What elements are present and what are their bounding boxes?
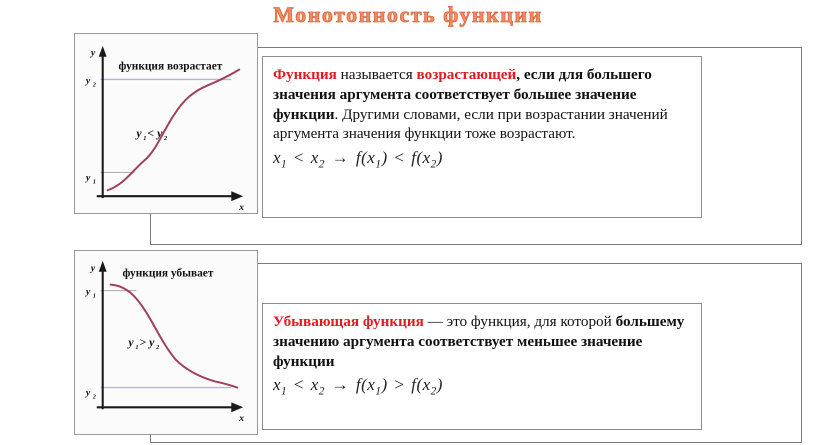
- definition-text-decreasing: Убывающая функция — это функция, для кот…: [273, 312, 691, 371]
- graph-caption-increasing: функция возрастает: [119, 61, 223, 73]
- graph-inequality-left-sub: 1: [143, 135, 146, 142]
- graph-inequality-right-sub: 2: [155, 344, 160, 351]
- graph-inequality-right: y: [155, 126, 163, 140]
- definition-text-increasing: Функция называется возрастающей, если дл…: [273, 65, 691, 144]
- formula-f1: f(x: [356, 375, 375, 394]
- graph-increasing-svg: y x y 2 y 1 функция возрастает y 1 < y 2: [75, 34, 257, 213]
- tick-label-y1-sub: 1: [93, 292, 96, 299]
- graph-decreasing-svg: y x y 1 y 2 функция убывает y 1 > y 2: [75, 251, 257, 434]
- formula-f1-close: ): [381, 375, 387, 394]
- formula-arrow: →: [330, 148, 352, 167]
- formula-arrow: →: [330, 375, 352, 394]
- formula-op1: <: [292, 148, 306, 167]
- formula-f2-close: ): [437, 148, 443, 167]
- text-eto-funktsiya-dlya-kotoroj: — это функция, для которой: [424, 313, 616, 330]
- x-axis-arrow: [231, 191, 243, 201]
- page-title: Монотонность функции: [0, 2, 816, 28]
- formula-x2-sub: 2: [319, 386, 325, 398]
- tick-label-y2-sub: 2: [92, 81, 97, 88]
- x-axis-label: x: [238, 202, 244, 213]
- y-axis-arrow: [99, 261, 107, 272]
- y-axis-label: y: [90, 48, 96, 59]
- y-axis-arrow: [99, 46, 107, 57]
- graph-inequality-right-sub: 2: [163, 135, 168, 142]
- x-axis-arrow: [231, 402, 243, 412]
- x-axis-label: x: [238, 413, 244, 424]
- formula-f2: f(x: [411, 375, 430, 394]
- formula-x2: x: [311, 148, 319, 167]
- term-ubyvayushchaya-funktsiya: Убывающая функция: [273, 313, 424, 330]
- tick-label-y1: y: [85, 287, 91, 298]
- formula-f1-close: ): [381, 148, 387, 167]
- graph-inequality-left: y: [134, 126, 142, 140]
- y-axis-label: y: [90, 263, 96, 274]
- formula-increasing: x1 < x2 → f(x1) < f(x2): [273, 148, 691, 170]
- tick-label-y1-sub: 1: [93, 178, 96, 185]
- formula-x1-sub: 1: [281, 158, 287, 170]
- graph-inequality-op: >: [139, 335, 146, 349]
- tick-label-y2: y: [85, 75, 91, 86]
- graph-card-increasing: y x y 2 y 1 функция возрастает y 1 < y 2: [74, 33, 258, 214]
- formula-f2: f(x: [411, 148, 430, 167]
- definition-card-increasing: Функция называется возрастающей, если дл…: [262, 56, 702, 218]
- graph-inequality-op: <: [147, 126, 154, 140]
- formula-x1: x: [273, 375, 281, 394]
- graph-caption-decreasing: функция убывает: [122, 268, 213, 280]
- formula-op2: >: [392, 375, 406, 394]
- formula-x2: x: [311, 375, 319, 394]
- formula-f2-close: ): [437, 375, 443, 394]
- definition-card-decreasing: Убывающая функция — это функция, для кот…: [262, 303, 702, 430]
- text-esli-dlya: , если для: [516, 66, 587, 83]
- text-nazyvaetsya: называется: [337, 66, 417, 83]
- formula-x2-sub: 2: [319, 158, 325, 170]
- tick-label-y1: y: [85, 172, 91, 183]
- term-funktsiya: Функция: [273, 66, 337, 83]
- graph-inequality-left-sub: 1: [135, 344, 138, 351]
- formula-x1: x: [273, 148, 281, 167]
- tick-label-y2-sub: 2: [92, 393, 97, 400]
- formula-decreasing: x1 < x2 → f(x1) > f(x2): [273, 375, 691, 397]
- formula-op1: <: [292, 375, 306, 394]
- graph-inequality-right: y: [147, 335, 155, 349]
- formula-x1-sub: 1: [281, 386, 287, 398]
- graph-card-decreasing: y x y 1 y 2 функция убывает y 1 > y 2: [74, 250, 258, 435]
- formula-f1: f(x: [356, 148, 375, 167]
- graph-inequality-left: y: [126, 335, 134, 349]
- tick-label-y2: y: [85, 387, 91, 398]
- term-vozrastayushchej: возрастающей: [417, 66, 517, 83]
- formula-op2: <: [392, 148, 406, 167]
